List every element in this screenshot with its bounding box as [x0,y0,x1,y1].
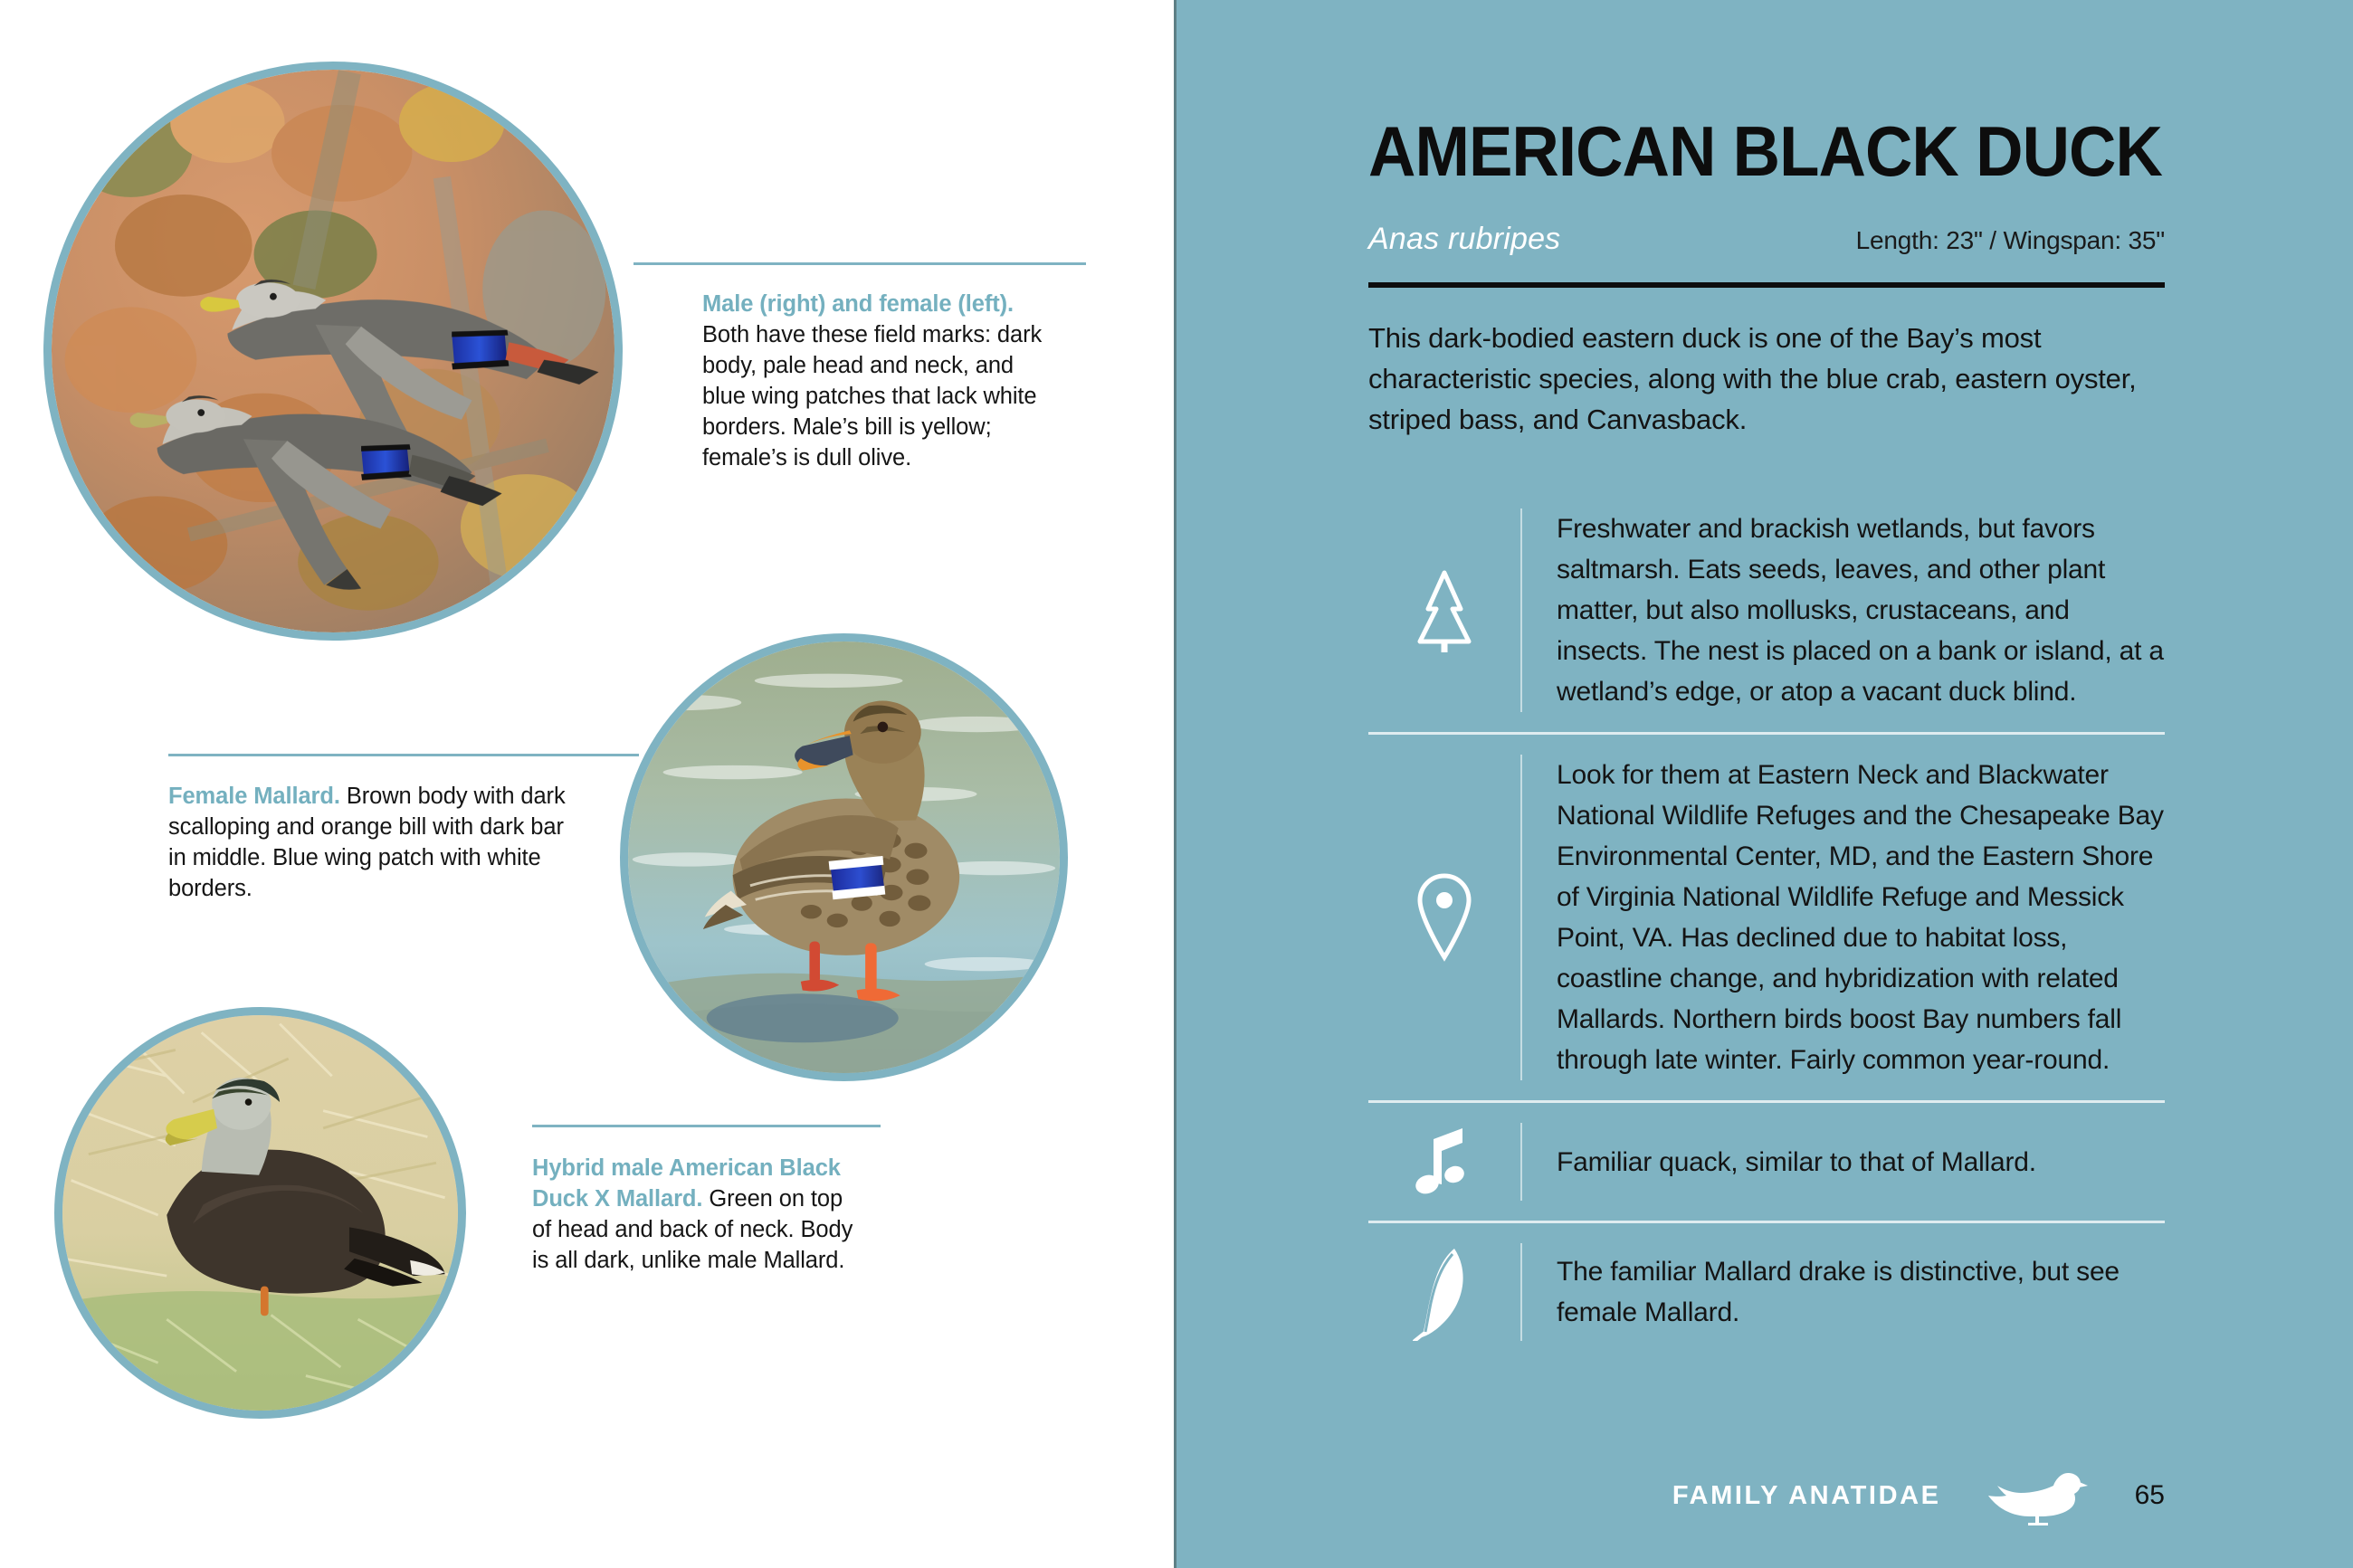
caption-rule-bottom [532,1125,881,1127]
fact-list: Freshwater and brackish wetlands, but fa… [1368,489,2165,1361]
title-divider [1368,282,2165,288]
caption-lead-mid: Female Mallard. [168,784,340,809]
female-mallard-illustration [628,641,1060,1073]
music-note-icon [1368,1123,1520,1201]
caption-hybrid-duck: Hybrid male American Black Duck X Mallar… [532,1154,858,1277]
fact-row-habitat-and-diet: Freshwater and brackish wetlands, but fa… [1368,489,2165,732]
fact-text-where-to-find: Look for them at Eastern Neck and Blackw… [1522,755,2165,1080]
hybrid-duck-photo [54,1007,466,1419]
fact-text-voice: Familiar quack, similar to that of Malla… [1522,1123,2165,1201]
duck-silhouette-icon [1988,1466,2088,1525]
species-intro: This dark-bodied eastern duck is one of … [1368,318,2165,441]
caption-rule-mid [168,754,639,756]
feather-icon [1368,1243,1520,1341]
fact-text-habitat-and-diet: Freshwater and brackish wetlands, but fa… [1522,508,2165,712]
caption-lead-top: Male (right) and female (left). [702,291,1014,317]
caption-female-mallard: Female Mallard. Brown body with dark sca… [168,782,567,905]
fact-row-similar-species: The familiar Mallard drake is distinctiv… [1368,1223,2165,1361]
page-number: 65 [2135,1480,2165,1511]
left-page: Male (right) and female (left). Both hav… [0,0,1176,1568]
female-mallard-photo [620,633,1068,1081]
species-meta-row: Anas rubripes Length: 23" / Wingspan: 35… [1368,222,2165,257]
book-spread: Male (right) and female (left). Both hav… [0,0,2353,1568]
right-page: AMERICAN BLACK DUCK Anas rubripes Length… [1176,0,2353,1568]
flying-black-ducks-photo [43,62,623,641]
fact-row-where-to-find: Look for them at Eastern Neck and Blackw… [1368,735,2165,1100]
scientific-name: Anas rubripes [1368,222,1560,257]
fact-text-similar-species: The familiar Mallard drake is distinctiv… [1522,1243,2165,1341]
caption-flying-ducks: Male (right) and female (left). Both hav… [702,290,1060,473]
flying-ducks-illustration [52,70,614,632]
measurements: Length: 23" / Wingspan: 35" [1856,226,2165,255]
fact-row-voice: Familiar quack, similar to that of Malla… [1368,1103,2165,1221]
page-title: AMERICAN BLACK DUCK [1368,110,2109,193]
caption-body-top: Both have these field marks: dark body, … [702,322,1042,470]
hybrid-duck-illustration [62,1015,458,1411]
evergreen-tree-icon [1368,508,1520,712]
page-footer: FAMILY ANATIDAE 65 [1368,1466,2165,1525]
map-pin-icon [1368,755,1520,1080]
caption-rule-top [633,262,1086,265]
family-label: FAMILY ANATIDAE [1672,1481,1941,1511]
